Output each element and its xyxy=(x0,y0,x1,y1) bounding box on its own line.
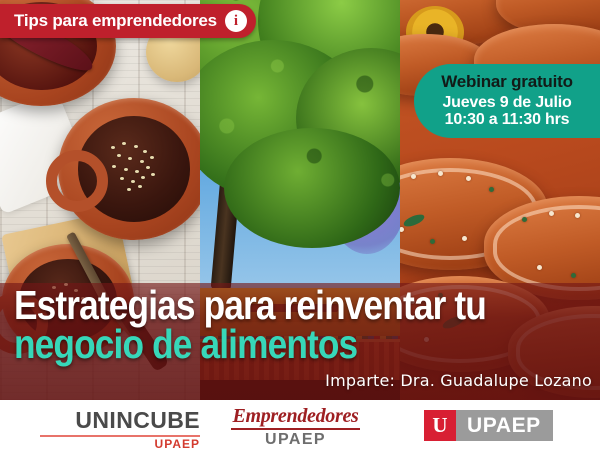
emprendedores-subtext: UPAEP xyxy=(228,432,363,448)
emprendedores-wordmark: Emprendedores xyxy=(228,406,363,426)
webinar-date: Jueves 9 de Julio xyxy=(442,94,571,112)
tips-badge: Tips para emprendedores i xyxy=(0,4,256,38)
tips-badge-label: Tips para emprendedores xyxy=(14,11,217,31)
sesame-seeds xyxy=(98,135,170,202)
webinar-info-block: Webinar gratuito Jueves 9 de Julio 10:30… xyxy=(414,64,600,138)
logo-upaep: U UPAEP xyxy=(424,410,553,441)
info-icon: i xyxy=(225,10,247,32)
headline-line-2: negocio de alimentos xyxy=(14,326,461,364)
emprendedores-rule xyxy=(231,428,361,430)
headline-line-1: Estrategias para reinventar tu xyxy=(14,287,461,325)
logo-emprendedores: Emprendedores UPAEP xyxy=(228,406,363,448)
unincube-subtext: UPAEP xyxy=(40,438,200,450)
headline-block: Estrategias para reinventar tu negocio d… xyxy=(14,287,534,363)
logo-unincube: UNINCUBE UPAEP xyxy=(40,409,200,450)
upaep-wordmark-box: UPAEP xyxy=(456,410,553,441)
bowl-handle xyxy=(46,150,108,212)
upaep-u-mark: U xyxy=(424,410,456,441)
presenter-line: Imparte: Dra. Guadalupe Lozano xyxy=(325,371,592,390)
upaep-u-glyph: U xyxy=(432,415,447,436)
webinar-time: 10:30 a 11:30 hrs xyxy=(445,111,570,129)
webinar-title: Webinar gratuito xyxy=(441,73,573,91)
unincube-wordmark: UNINCUBE xyxy=(40,409,200,432)
poster: Tips para emprendedores i Webinar gratui… xyxy=(0,0,600,450)
upaep-wordmark: UPAEP xyxy=(467,415,541,436)
